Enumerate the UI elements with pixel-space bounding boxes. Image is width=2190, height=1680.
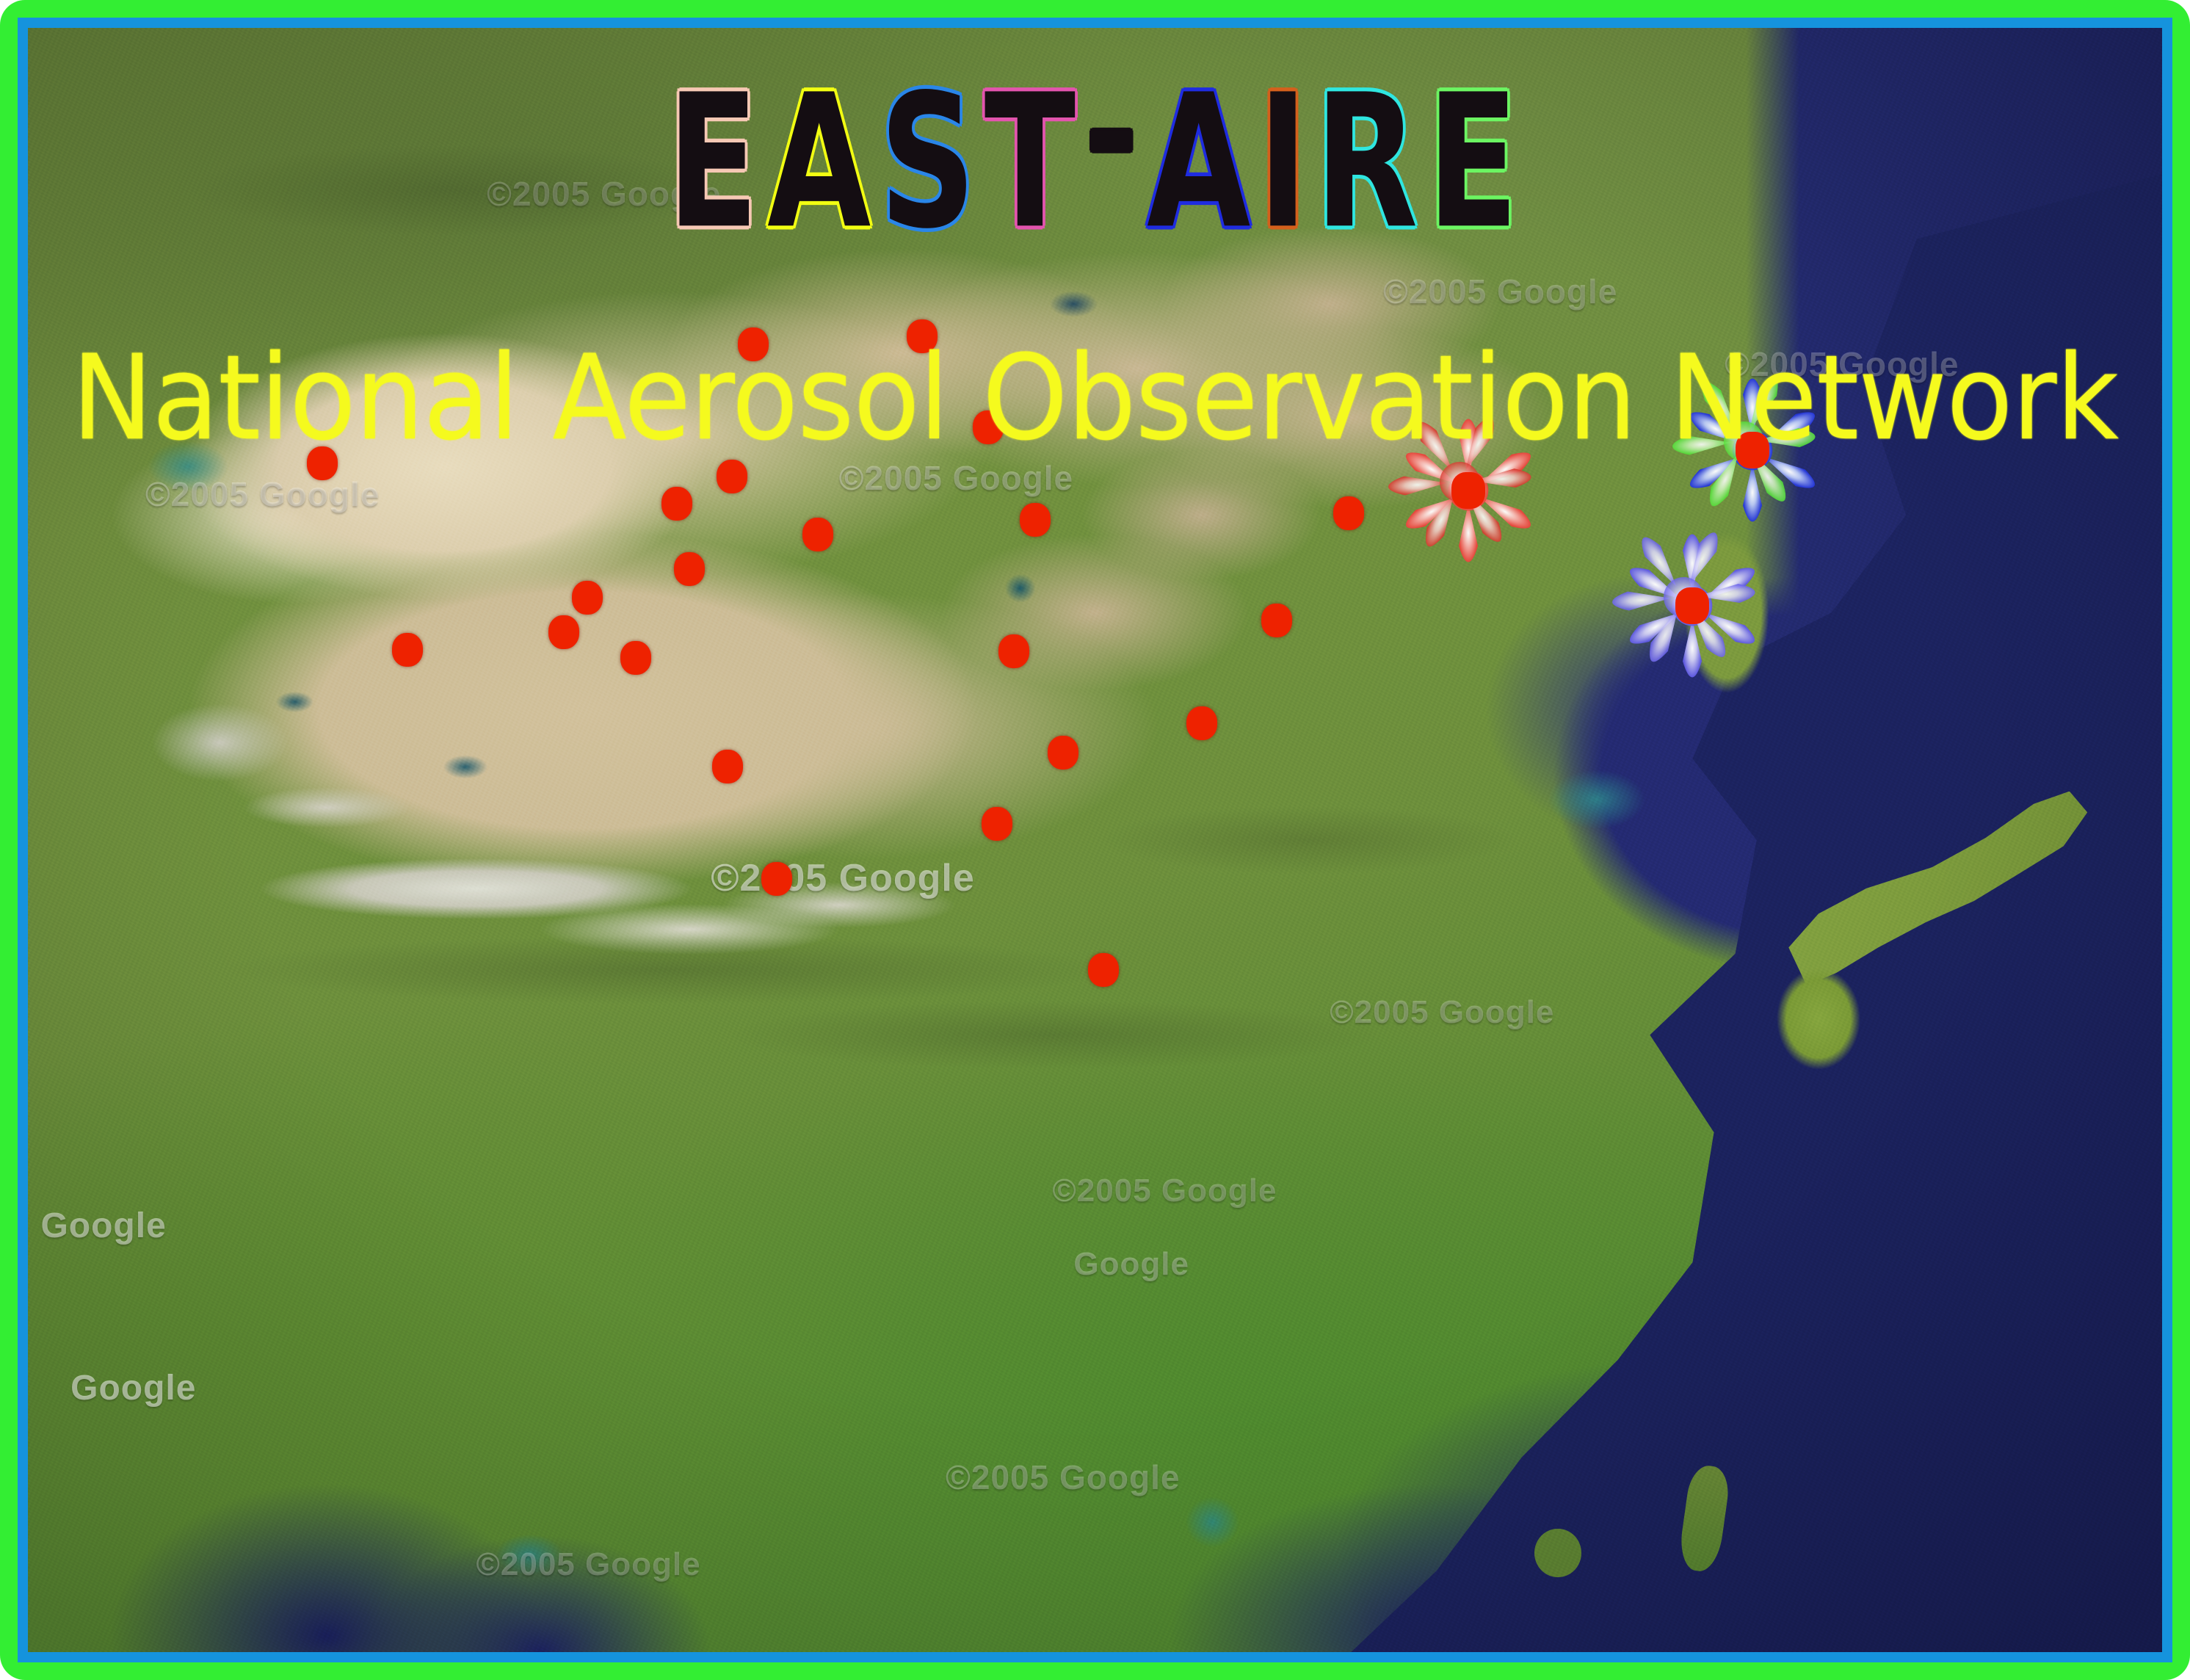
- supersite-center-dot: [1736, 432, 1769, 468]
- station-dot[interactable]: [982, 807, 1012, 841]
- taihu-supersite[interactable]: [1597, 510, 1788, 701]
- station-dot[interactable]: [802, 518, 833, 551]
- station-dot[interactable]: [1186, 706, 1217, 740]
- station-dot[interactable]: [973, 410, 1004, 444]
- supersite-center-dot: [1675, 587, 1709, 624]
- satellite-map[interactable]: ©2005 Google©2005 Google©2005 Google©200…: [28, 28, 2162, 1652]
- station-dot[interactable]: [1261, 604, 1292, 637]
- station-dot[interactable]: [392, 633, 423, 667]
- station-dot[interactable]: [674, 552, 705, 586]
- station-dot[interactable]: [761, 862, 792, 896]
- station-dot[interactable]: [907, 319, 938, 353]
- xianghe-supersite[interactable]: [1373, 395, 1564, 586]
- station-dot[interactable]: [717, 460, 747, 493]
- poster-inner-border: ©2005 Google©2005 Google©2005 Google©200…: [18, 18, 2172, 1662]
- station-dot[interactable]: [1088, 953, 1119, 987]
- station-dot[interactable]: [1020, 503, 1051, 537]
- station-dot[interactable]: [1333, 496, 1364, 530]
- poster-frame: ©2005 Google©2005 Google©2005 Google©200…: [0, 0, 2190, 1680]
- station-dot[interactable]: [307, 446, 338, 480]
- station-marker-layer[interactable]: [28, 28, 2162, 1652]
- supersite-center-dot: [1451, 472, 1485, 509]
- station-dot[interactable]: [548, 615, 579, 649]
- station-dot[interactable]: [572, 581, 603, 615]
- station-dot[interactable]: [998, 634, 1029, 668]
- station-dot[interactable]: [1048, 736, 1078, 770]
- station-dot[interactable]: [620, 641, 651, 675]
- station-dot[interactable]: [738, 327, 769, 361]
- station-dot[interactable]: [661, 487, 692, 521]
- station-dot[interactable]: [712, 750, 743, 783]
